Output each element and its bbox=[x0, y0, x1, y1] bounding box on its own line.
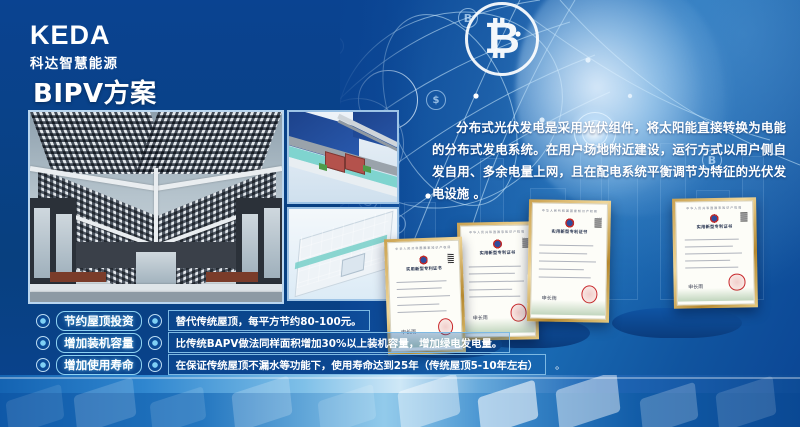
feature-label: 增加装机容量 bbox=[56, 333, 142, 353]
feature-description: 在保证传统屋顶不漏水等功能下，使用寿命达到25年（传统屋顶5-10年左右） bbox=[168, 354, 547, 375]
certificate-header: 中华人民共和国国家知识产权局 bbox=[388, 245, 458, 251]
feature-row: 节约屋顶投资 替代传统屋顶，每平方节约80-100元。 bbox=[36, 310, 379, 331]
bullet-dot-icon bbox=[148, 314, 162, 328]
array-render-diagram bbox=[287, 207, 399, 301]
emblem-icon bbox=[565, 216, 574, 229]
description-paragraph: 分布式光伏发电是采用光伏组件，将太阳能直接转换为电能的分布式发电系统。在用户场地… bbox=[432, 117, 786, 205]
qr-code-icon bbox=[595, 217, 602, 227]
logo-subtitle: 科达智慧能源 bbox=[30, 52, 118, 72]
brand-logo[interactable]: KEDA 科达智慧能源 bbox=[30, 22, 118, 72]
patent-certificate[interactable]: 中华人民共和国国家知识产权局 实用新型专利证书 申长雨 bbox=[672, 197, 758, 308]
certificate-title: 实用新型专利证书 bbox=[389, 265, 459, 273]
emblem-icon bbox=[710, 213, 719, 224]
feature-description: 替代传统屋顶，每平方节约80-100元。 bbox=[168, 310, 370, 331]
certificate-header: 中华人民共和国国家知识产权局 bbox=[461, 230, 533, 235]
certificate-title: 实用新型专利证书 bbox=[677, 224, 753, 231]
emblem-icon bbox=[493, 238, 502, 250]
mounting-detail-diagram bbox=[287, 110, 399, 204]
certificate-title: 实用新型专利证书 bbox=[532, 228, 606, 235]
patent-certificate[interactable]: 中华人民共和国国家知识产权局 实用新型专利证书 申长雨 bbox=[527, 199, 611, 322]
bottom-decorative-band bbox=[0, 375, 800, 427]
certificate-header: 中华人民共和国国家知识产权局 bbox=[676, 205, 752, 210]
feature-label: 节约屋顶投资 bbox=[56, 311, 142, 331]
emblem-icon bbox=[419, 254, 428, 266]
podium bbox=[612, 308, 742, 338]
page-title: BIPV方案 bbox=[33, 73, 157, 110]
qr-code-icon bbox=[447, 253, 454, 263]
bitcoin-icon: ₿ bbox=[465, 2, 539, 76]
feature-tail: 。 bbox=[555, 357, 565, 372]
feature-description: 比传统BAPV做法同样面积增加30%以上装机容量，增加绿电发电量。 bbox=[168, 332, 511, 353]
bullet-dot-icon bbox=[36, 314, 50, 328]
bullet-dot-icon bbox=[148, 336, 162, 350]
bullet-dot-icon bbox=[148, 358, 162, 372]
feature-label: 增加使用寿命 bbox=[56, 355, 142, 375]
logo-wordmark: KEDA bbox=[30, 22, 118, 49]
poster-canvas: B B B @ ¥ $ ₿ KEDA 科达智慧能源 BIPV方案 bbox=[0, 0, 800, 427]
feature-row: 增加装机容量 比传统BAPV做法同样面积增加30%以上装机容量，增加绿电发电量。 bbox=[36, 332, 519, 353]
qr-code-icon bbox=[740, 213, 747, 222]
certificate-header: 中华人民共和国国家知识产权局 bbox=[533, 208, 607, 213]
feature-row: 增加使用寿命 在保证传统屋顶不漏水等功能下，使用寿命达到25年（传统屋顶5-10… bbox=[36, 354, 565, 375]
bullet-dot-icon bbox=[36, 336, 50, 350]
coin-icon: $ bbox=[426, 90, 446, 110]
bullet-dot-icon bbox=[36, 358, 50, 372]
atrium-photo bbox=[28, 110, 284, 304]
certificate-title: 实用新型专利证书 bbox=[461, 250, 533, 257]
